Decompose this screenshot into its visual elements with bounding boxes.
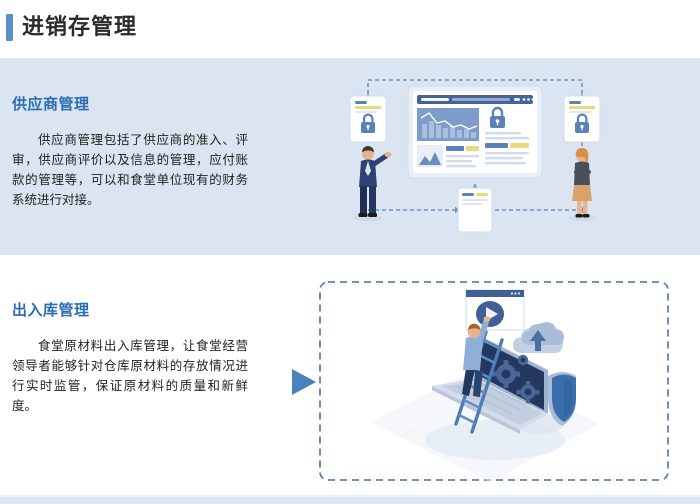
supplier-management-illustration [330,66,620,251]
left-triangle-pointer [292,369,316,395]
section-heading-inventory: 出入库管理 [12,299,90,320]
bottom-background-band [0,497,700,504]
section-heading-supplier: 供应商管理 [12,93,90,114]
document-card-center [458,188,492,232]
section-body-inventory: 食堂原材料出入库管理，让食堂经营领导者能够针对仓库原材料的存放情况进行实时监管，… [12,336,248,416]
document-card-left-locked [350,96,386,142]
slide-page: 进销存管理 供应商管理 供应商管理包括了供应商的准入、评审，供应商评价以及信息的… [0,0,700,504]
title-accent-bar [6,14,13,41]
bar-line-chart [417,108,479,141]
inventory-management-illustration [280,272,680,497]
lock-panel [482,108,533,167]
section-body-supplier: 供应商管理包括了供应商的准入、评审，供应商评价以及信息的管理，应付账款的管理等，… [12,130,248,210]
document-card-right-locked [564,96,600,142]
dashboard-browser-window [408,86,542,178]
page-title: 进销存管理 [22,12,137,42]
page-header: 进销存管理 [0,0,700,58]
